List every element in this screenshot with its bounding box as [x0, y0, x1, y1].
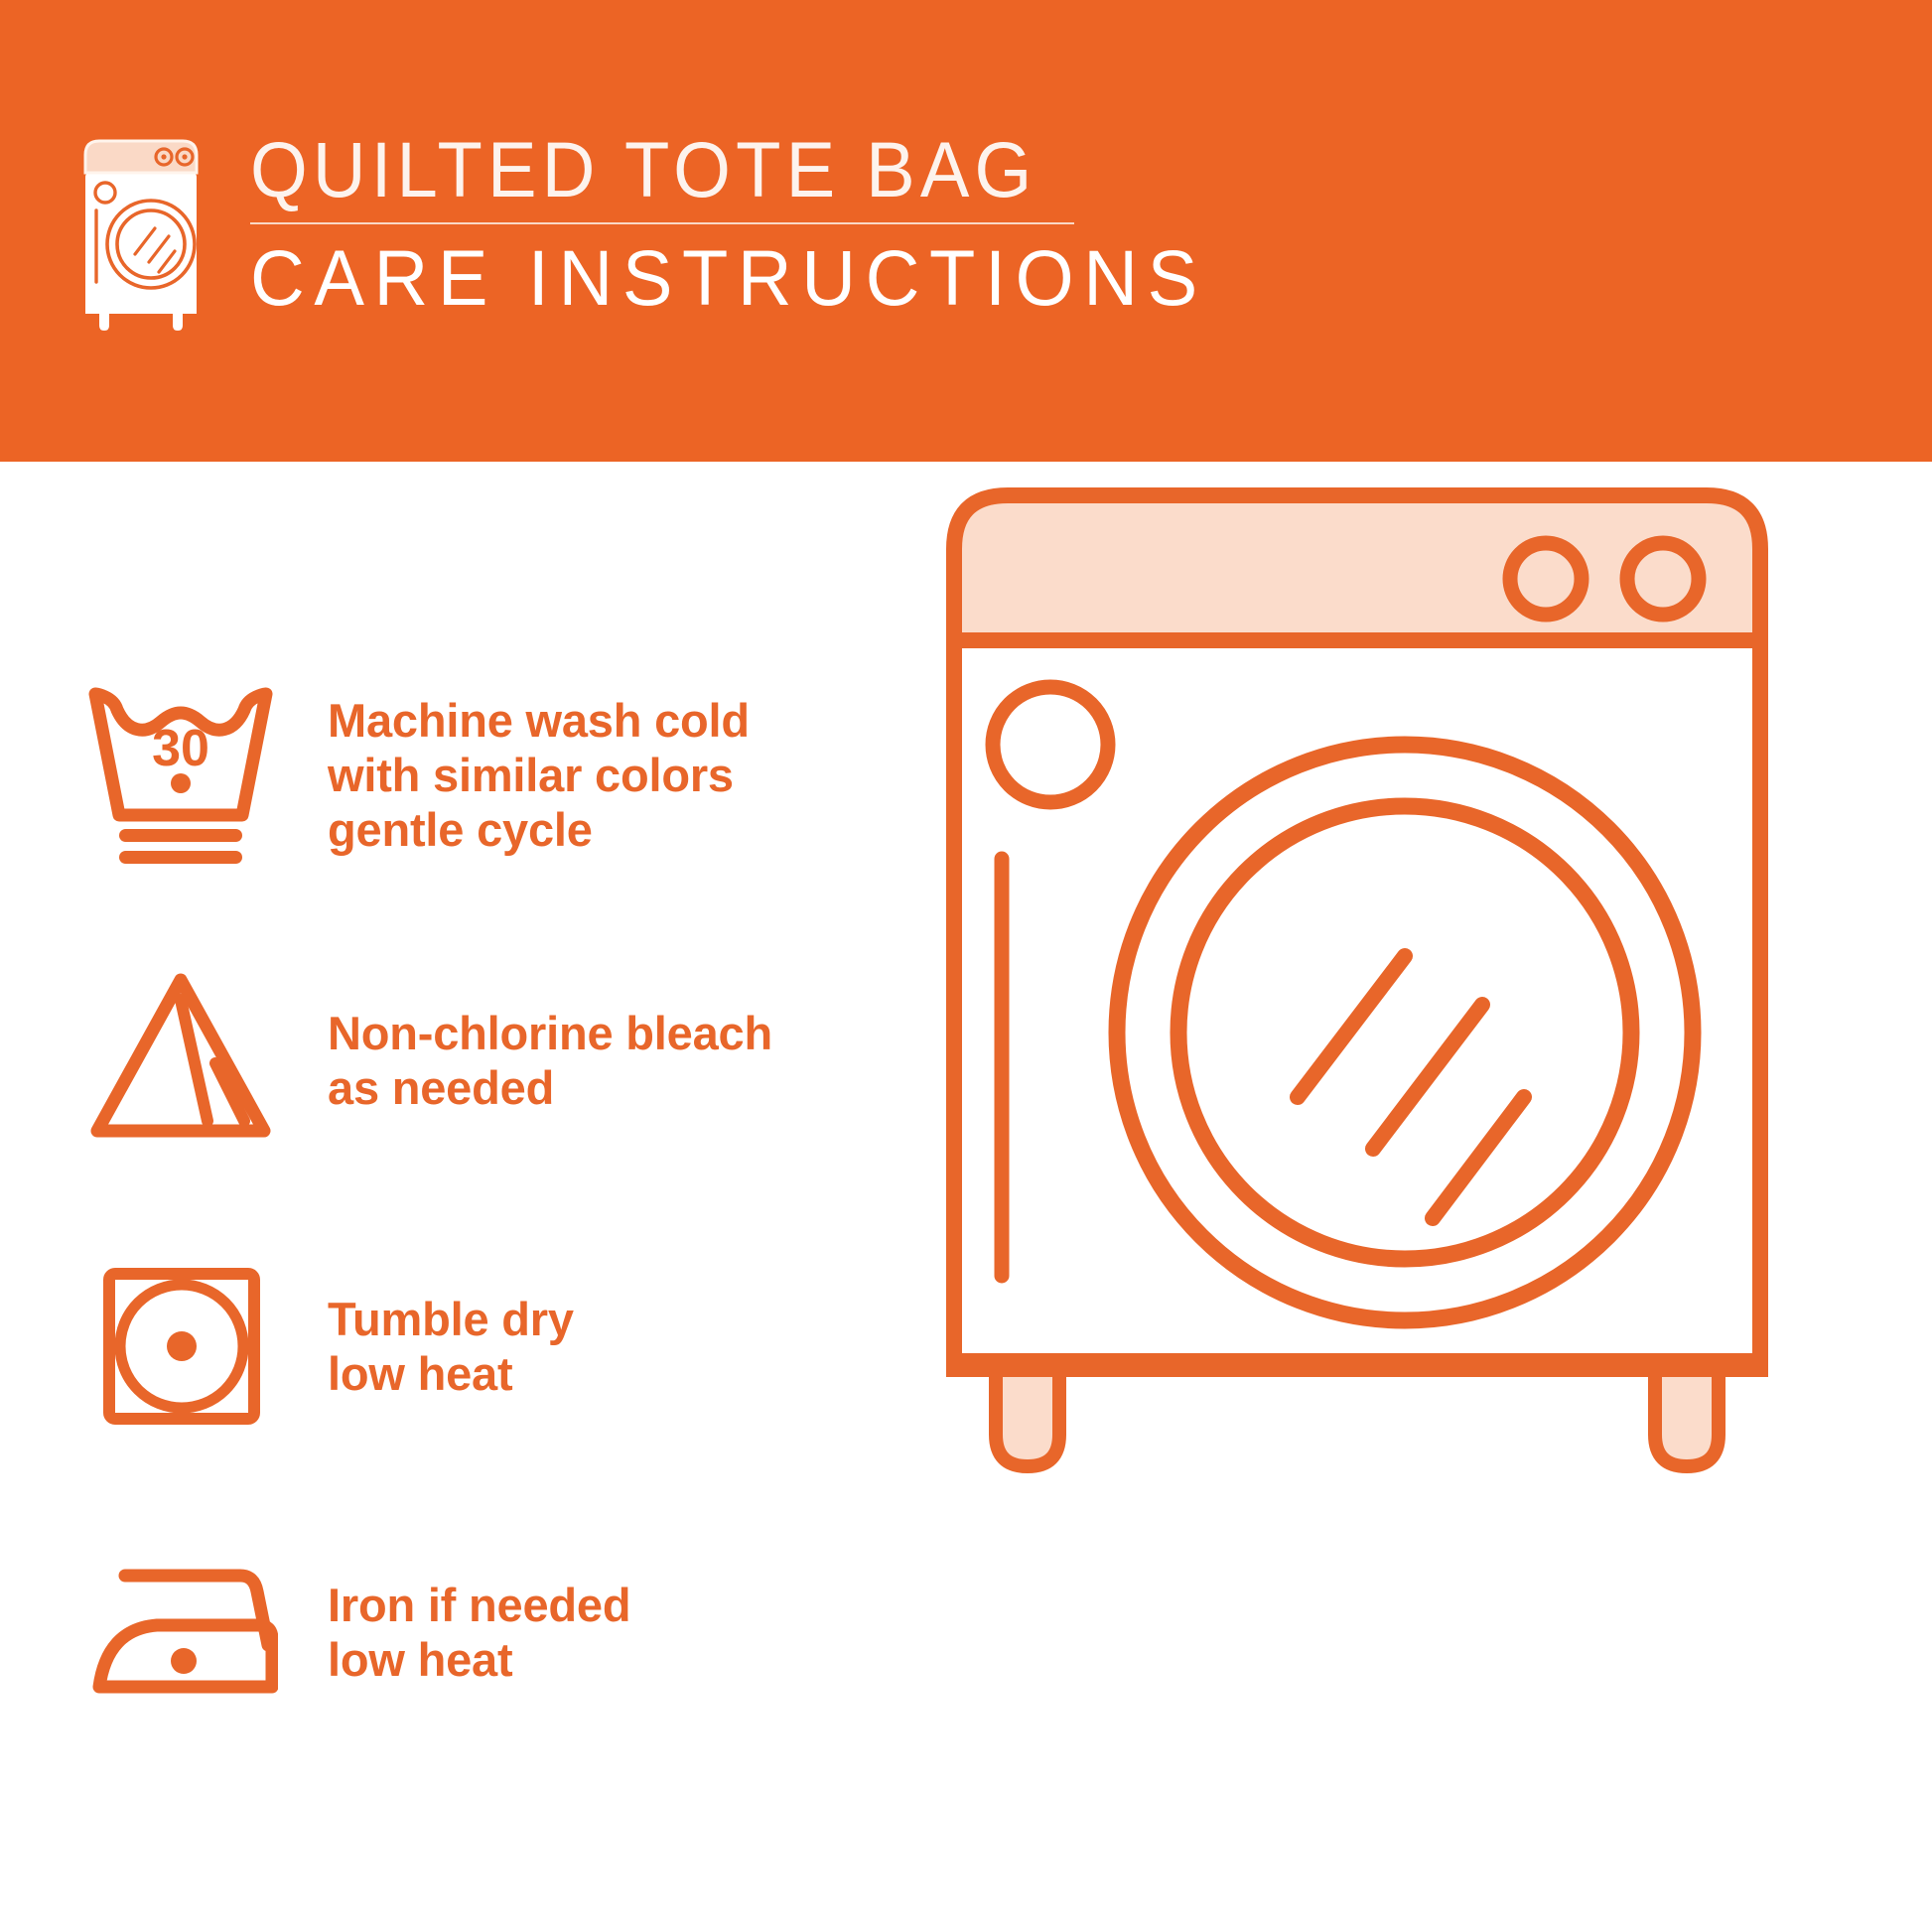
knob-right: [1627, 543, 1699, 615]
care-line: Non-chlorine bleach: [328, 1006, 937, 1060]
page-title-subtitle: CARE INSTRUCTIONS: [250, 234, 1261, 322]
care-line: gentle cycle: [328, 802, 937, 857]
wash-basin-30-gentle-icon: 30: [83, 680, 278, 869]
care-label-machine-wash: Machine wash cold with similar colors ge…: [328, 693, 937, 857]
header-titles: QUILTED TOTE BAG CARE INSTRUCTIONS: [250, 127, 1303, 322]
care-line: low heat: [328, 1632, 937, 1687]
knob-left: [1510, 543, 1582, 615]
care-line: Tumble dry: [328, 1292, 937, 1346]
washing-machine-icon: [71, 133, 212, 332]
care-line: with similar colors: [328, 748, 937, 802]
header-content: QUILTED TOTE BAG CARE INSTRUCTIONS: [71, 127, 1303, 345]
care-line: Machine wash cold: [328, 693, 937, 748]
care-row-machine-wash: 30 Machine wash cold with similar colors…: [83, 660, 937, 889]
care-row-tumble-dry: Tumble dry low heat: [83, 1232, 937, 1460]
washing-machine-illustration: [938, 482, 1852, 1509]
header-divider: [250, 222, 1074, 224]
care-row-bleach: Non-chlorine bleach as needed: [83, 946, 937, 1174]
care-line: as needed: [328, 1060, 937, 1115]
tumble-dry-low-heat-icon: [83, 1252, 278, 1441]
care-label-tumble-dry: Tumble dry low heat: [328, 1292, 937, 1401]
leg-left: [996, 1365, 1059, 1466]
care-line: low heat: [328, 1346, 937, 1401]
iron-low-heat-icon: [83, 1538, 278, 1726]
care-line: Iron if needed: [328, 1578, 937, 1632]
content-area: 30 Machine wash cold with similar colors…: [0, 462, 1932, 1932]
care-instruction-list: 30 Machine wash cold with similar colors…: [83, 660, 937, 1804]
header-banner: QUILTED TOTE BAG CARE INSTRUCTIONS: [0, 0, 1932, 462]
page-title-product: QUILTED TOTE BAG: [250, 127, 1239, 212]
care-row-iron: Iron if needed low heat: [83, 1518, 937, 1746]
bleach-triangle-non-chlorine-icon: [83, 966, 278, 1155]
care-label-iron: Iron if needed low heat: [328, 1578, 937, 1687]
leg-right: [1655, 1365, 1719, 1466]
care-label-bleach: Non-chlorine bleach as needed: [328, 1006, 937, 1115]
wash-temperature-label: 30: [152, 720, 209, 777]
